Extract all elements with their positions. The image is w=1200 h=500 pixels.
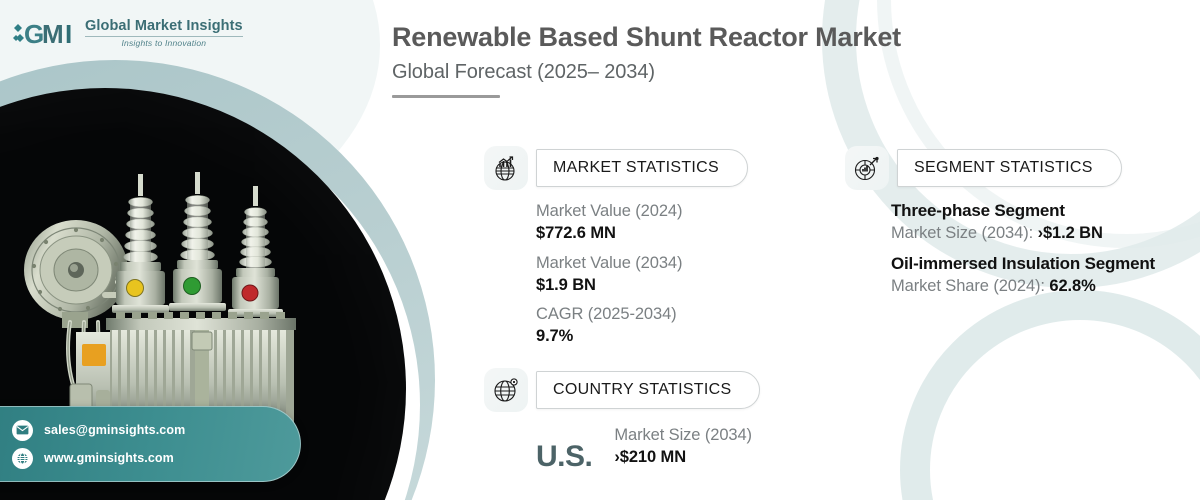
market-statistics-label: MARKET STATISTICS xyxy=(553,159,719,177)
globe-pin-icon xyxy=(484,368,528,412)
segment-2-metric: Market Share (2024): 62.8% xyxy=(891,275,1171,297)
brand-rule xyxy=(85,36,243,37)
bushing-3 xyxy=(228,186,283,317)
pie-chart-arrow-icon xyxy=(845,146,889,190)
svg-text:G: G xyxy=(24,19,43,48)
contact-badge: sales@gminsights.com www.gminsights.com xyxy=(0,406,301,482)
cagr-value: 9.7% xyxy=(536,325,682,347)
market-value-2024-label: Market Value (2024) xyxy=(536,200,682,222)
bushing-group xyxy=(112,172,283,317)
globe-chart-icon xyxy=(484,146,528,190)
page-subtitle: Global Forecast (2025– 2034) xyxy=(392,61,901,84)
conservator-drum xyxy=(24,220,128,328)
segment-2-title: Oil-immersed Insulation Segment xyxy=(891,253,1171,275)
page-title: Renewable Based Shunt Reactor Market xyxy=(392,22,901,53)
country-statistics-body: U.S. Market Size (2034) ›$210 MN xyxy=(536,424,752,476)
country-row: U.S. Market Size (2034) ›$210 MN xyxy=(536,424,752,476)
segment-1-metric-value: ›$1.2 BN xyxy=(1038,224,1103,242)
segment-statistics-label: SEGMENT STATISTICS xyxy=(914,159,1093,177)
gmi-logo-icon: G M I xyxy=(12,18,78,48)
segment-1-metric-label: Market Size (2034): xyxy=(891,224,1038,242)
valve-assembly xyxy=(102,273,146,306)
cagr-label: CAGR (2025-2034) xyxy=(536,303,682,325)
contact-email-row[interactable]: sales@gminsights.com xyxy=(12,420,300,441)
market-statistics-pill[interactable]: MARKET STATISTICS xyxy=(536,149,748,187)
svg-text:M: M xyxy=(42,19,63,48)
country-metric-label: Market Size (2034) xyxy=(614,424,752,446)
country-metric-value: ›$210 MN xyxy=(614,446,752,468)
bushing-1 xyxy=(112,174,169,313)
brand-tagline: Insights to Innovation xyxy=(85,39,243,48)
segment-statistics-pill[interactable]: SEGMENT STATISTICS xyxy=(897,149,1122,187)
contact-website: www.gminsights.com xyxy=(44,451,174,465)
brand-logo[interactable]: G M I Global Market Insights Insights to… xyxy=(12,18,243,48)
bushing-2 xyxy=(169,172,226,311)
country-statistics-pill[interactable]: COUNTRY STATISTICS xyxy=(536,371,760,409)
svg-text:I: I xyxy=(65,19,71,48)
country-metric: Market Size (2034) ›$210 MN xyxy=(614,424,752,476)
brand-logo-text: Global Market Insights Insights to Innov… xyxy=(85,19,243,48)
segment-2-metric-value: 62.8% xyxy=(1049,277,1095,295)
segment-statistics-header: SEGMENT STATISTICS xyxy=(845,146,1122,190)
globe-icon xyxy=(12,448,33,469)
contact-email: sales@gminsights.com xyxy=(44,423,185,437)
market-statistics-header: MARKET STATISTICS xyxy=(484,146,748,190)
segment-1-title: Three-phase Segment xyxy=(891,200,1171,222)
market-value-2034-label: Market Value (2034) xyxy=(536,252,682,274)
market-value-2024-value: $772.6 MN xyxy=(536,222,682,244)
envelope-icon xyxy=(12,420,33,441)
title-underline xyxy=(392,95,500,98)
market-statistics-body: Market Value (2024) $772.6 MN Market Val… xyxy=(536,200,682,355)
pipework xyxy=(68,322,114,396)
decor-bottom-right-ring xyxy=(900,290,1200,500)
country-code: U.S. xyxy=(536,442,592,472)
page-title-block: Renewable Based Shunt Reactor Market Glo… xyxy=(392,22,901,98)
segment-statistics-body: Three-phase Segment Market Size (2034): … xyxy=(891,200,1171,306)
pipework-highlight xyxy=(68,322,114,396)
country-statistics-label: COUNTRY STATISTICS xyxy=(553,381,731,399)
brand-name: Global Market Insights xyxy=(85,19,243,34)
country-statistics-header: COUNTRY STATISTICS xyxy=(484,368,760,412)
segment-1-metric: Market Size (2034): ›$1.2 BN xyxy=(891,222,1171,244)
tank-top-deck xyxy=(106,312,296,330)
segment-2-metric-label: Market Share (2024): xyxy=(891,277,1049,295)
market-value-2034-value: $1.9 BN xyxy=(536,274,682,296)
infographic-canvas: G M I Global Market Insights Insights to… xyxy=(0,0,1200,500)
contact-website-row[interactable]: www.gminsights.com xyxy=(12,448,300,469)
